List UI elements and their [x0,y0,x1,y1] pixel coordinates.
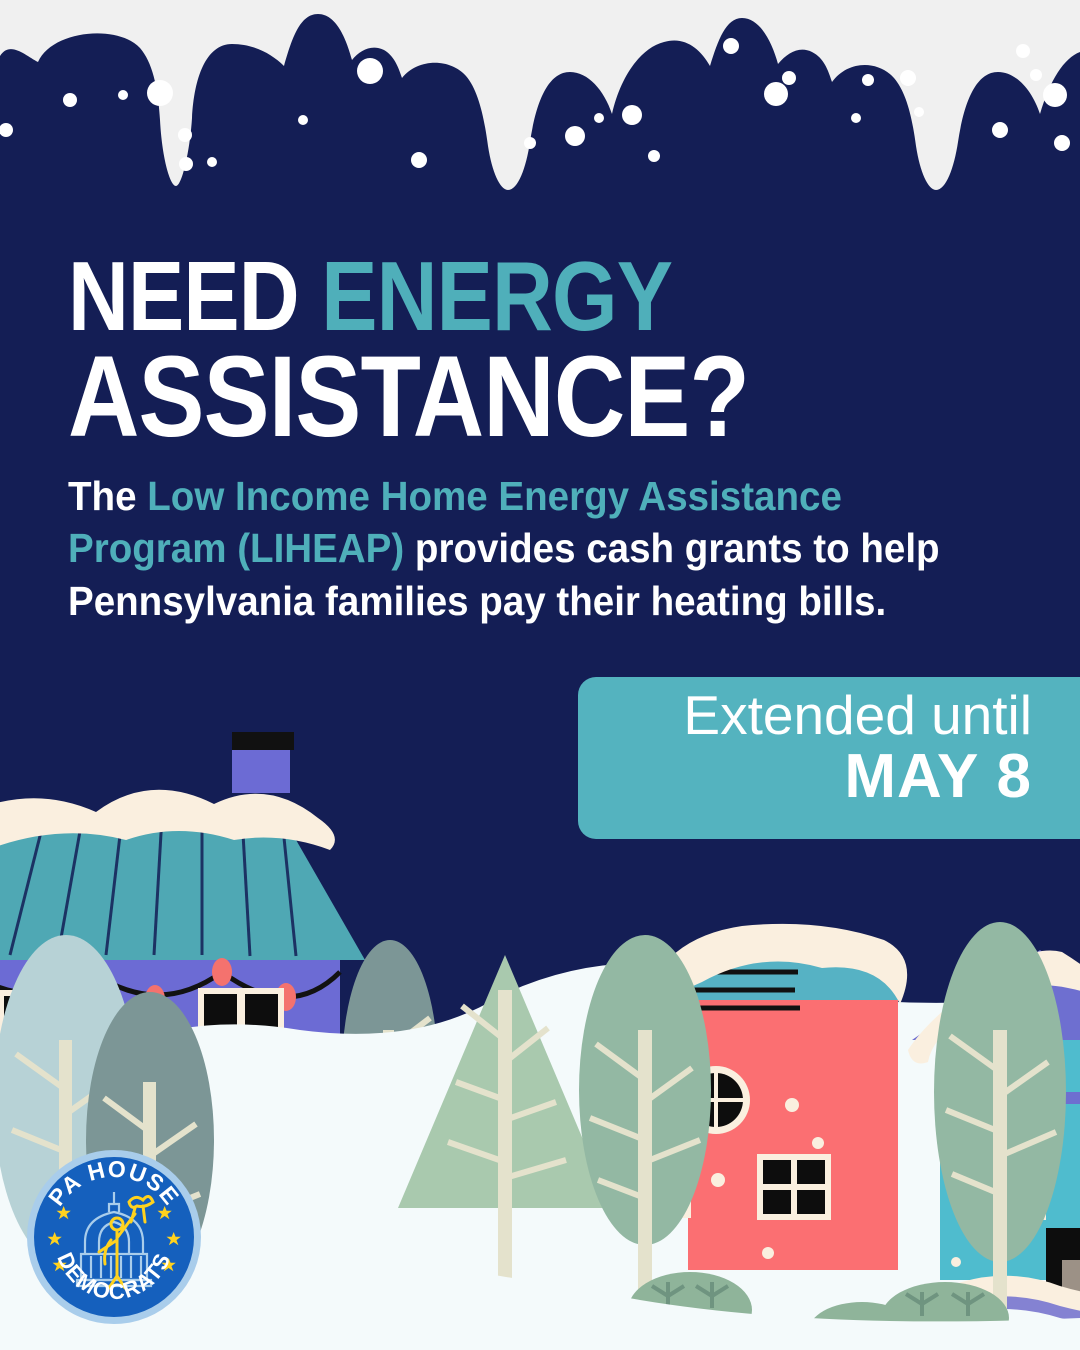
icicle-snow-border [0,0,1080,210]
deadline-banner: Extended until MAY 8 [578,677,1080,839]
mid-house-body [688,1000,898,1270]
poster-canvas: NEED ENERGY ASSISTANCE? The Low Income H… [0,0,1080,1350]
body-copy-seg-1: The [68,473,147,519]
chimney [232,732,294,793]
banner-line-1: Extended until [578,687,1032,744]
pa-house-democrats-logo[interactable]: PA HOUSE DEMOCRATS [25,1148,203,1326]
banner-deadline-date: MAY 8 [578,744,1032,811]
body-copy: The Low Income Home Energy Assistance Pr… [68,470,970,627]
headline: NEED ENERGY ASSISTANCE? [68,250,885,452]
headline-line-1: NEED ENERGY [68,250,885,343]
headline-line-2: ASSISTANCE? [68,343,885,452]
